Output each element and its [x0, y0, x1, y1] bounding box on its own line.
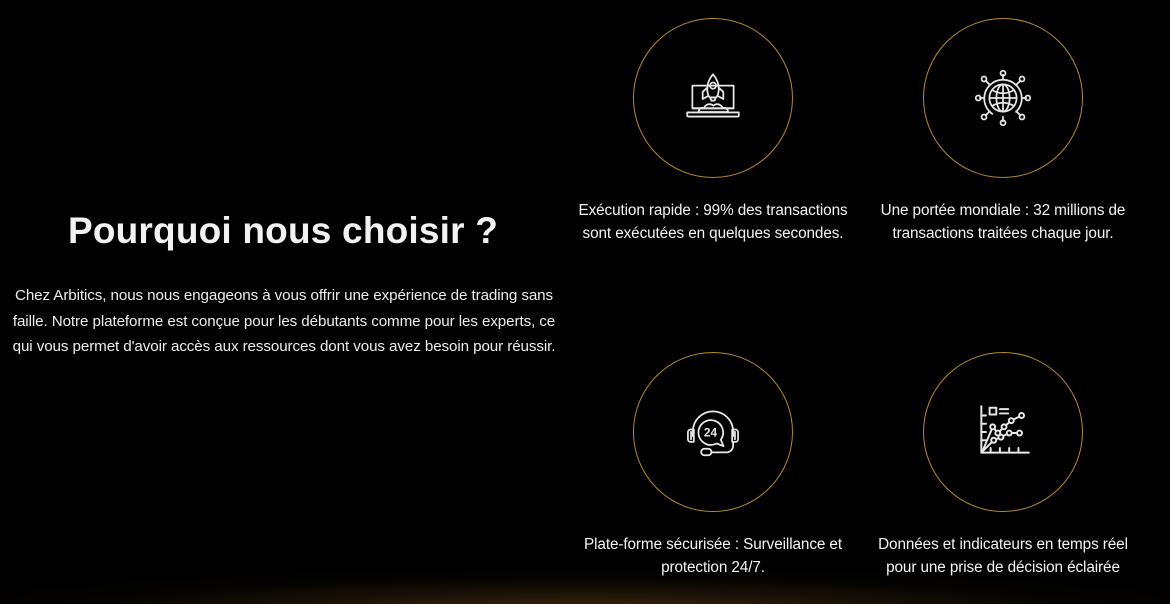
- feature-caption: Plate-forme sécurisée : Surveillance et …: [568, 533, 858, 579]
- feature-icon-circle: [633, 18, 793, 178]
- line-chart-icon: [970, 399, 1036, 465]
- feature-card-secure-platform[interactable]: 24 Plate-forme sécurisée : Surveillance …: [568, 352, 858, 579]
- feature-card-realtime-data[interactable]: Données et indicateurs en temps réel pou…: [858, 352, 1148, 579]
- headset-24-icon: 24: [680, 399, 746, 465]
- page-title: Pourquoi nous choisir ?: [0, 211, 566, 252]
- rocket-laptop-icon: [680, 65, 746, 131]
- intro-paragraph: Chez Arbitics, nous nous engageons à vou…: [8, 283, 560, 360]
- feature-card-global-reach[interactable]: Une portée mondiale : 32 millions de tra…: [858, 18, 1148, 245]
- features-grid: Exécution rapide : 99% des transactions …: [566, 0, 1170, 604]
- globe-network-icon: [970, 65, 1036, 131]
- feature-caption: Une portée mondiale : 32 millions de tra…: [858, 199, 1148, 245]
- why-choose-us-section: Pourquoi nous choisir ? Chez Arbitics, n…: [0, 0, 1170, 604]
- feature-caption: Données et indicateurs en temps réel pou…: [858, 533, 1148, 579]
- feature-icon-circle: [923, 18, 1083, 178]
- feature-card-fast-execution[interactable]: Exécution rapide : 99% des transactions …: [568, 18, 858, 245]
- headset-badge-label: 24: [704, 426, 718, 440]
- feature-icon-circle: [923, 352, 1083, 512]
- feature-icon-circle: 24: [633, 352, 793, 512]
- intro-column: Pourquoi nous choisir ? Chez Arbitics, n…: [0, 0, 566, 604]
- feature-caption: Exécution rapide : 99% des transactions …: [568, 199, 858, 245]
